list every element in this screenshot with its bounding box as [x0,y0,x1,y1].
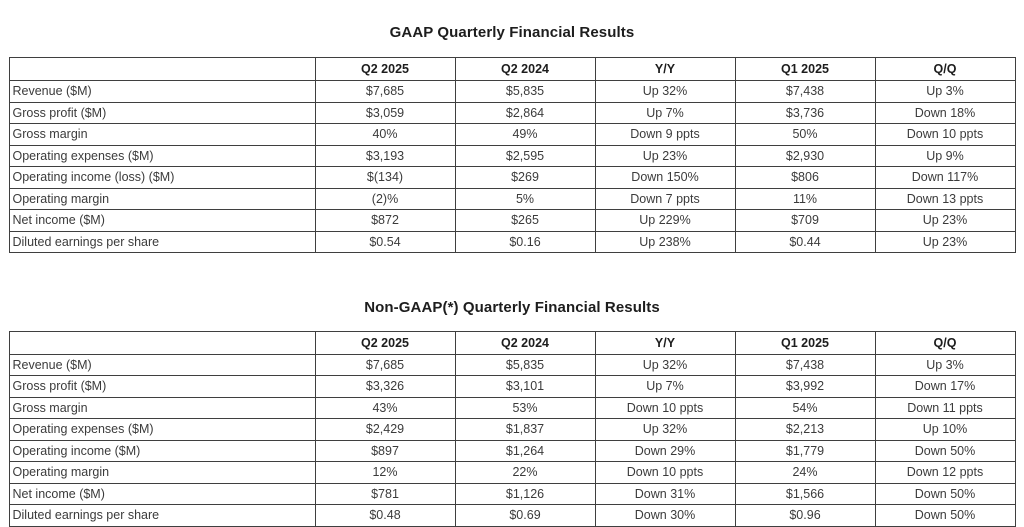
cell-qq: Down 11 ppts [875,397,1015,419]
cell-q2-2025: $7,685 [315,81,455,103]
row-label: Revenue ($M) [9,81,315,103]
cell-q1-2025: $1,566 [735,483,875,505]
gaap-table-body: Revenue ($M) $7,685 $5,835 Up 32% $7,438… [9,81,1015,253]
cell-qq: Up 3% [875,81,1015,103]
cell-q2-2024: $2,595 [455,145,595,167]
cell-q1-2025: $806 [735,167,875,189]
row-label: Operating income (loss) ($M) [9,167,315,189]
cell-yy: Up 23% [595,145,735,167]
cell-q2-2025: $3,059 [315,102,455,124]
row-label: Revenue ($M) [9,354,315,376]
cell-q2-2025: 43% [315,397,455,419]
financial-results-page: GAAP Quarterly Financial Results Q2 2025… [0,12,1024,526]
cell-q2-2025: $3,193 [315,145,455,167]
table-row: Gross margin 40% 49% Down 9 ppts 50% Dow… [9,124,1015,146]
column-header-q2-2025: Q2 2025 [315,58,455,81]
column-header-q2-2025: Q2 2025 [315,331,455,354]
nongaap-results-table: Q2 2025 Q2 2024 Y/Y Q1 2025 Q/Q Revenue … [9,331,1016,527]
cell-q2-2025: $2,429 [315,419,455,441]
table-row: Operating income (loss) ($M) $(134) $269… [9,167,1015,189]
cell-q2-2024: $265 [455,210,595,232]
row-label: Operating expenses ($M) [9,419,315,441]
row-label: Net income ($M) [9,483,315,505]
column-header-yy: Y/Y [595,331,735,354]
table-row: Net income ($M) $872 $265 Up 229% $709 U… [9,210,1015,232]
cell-qq: Down 50% [875,505,1015,527]
cell-q2-2025: $(134) [315,167,455,189]
table-row: Diluted earnings per share $0.54 $0.16 U… [9,231,1015,253]
cell-qq: Down 50% [875,483,1015,505]
table-header-row: Q2 2025 Q2 2024 Y/Y Q1 2025 Q/Q [9,58,1015,81]
cell-yy: Down 31% [595,483,735,505]
cell-q2-2024: $269 [455,167,595,189]
cell-q1-2025: 24% [735,462,875,484]
cell-qq: Up 23% [875,210,1015,232]
column-header-qq: Q/Q [875,331,1015,354]
cell-q1-2025: $709 [735,210,875,232]
cell-q2-2025: $872 [315,210,455,232]
cell-q1-2025: $7,438 [735,354,875,376]
cell-q1-2025: $1,779 [735,440,875,462]
cell-q1-2025: $2,213 [735,419,875,441]
row-label: Operating income ($M) [9,440,315,462]
row-label: Diluted earnings per share [9,231,315,253]
row-label: Operating margin [9,462,315,484]
cell-qq: Down 12 ppts [875,462,1015,484]
table-row: Operating margin (2)% 5% Down 7 ppts 11%… [9,188,1015,210]
cell-q1-2025: 11% [735,188,875,210]
cell-qq: Down 117% [875,167,1015,189]
row-label: Gross margin [9,397,315,419]
column-header-q2-2024: Q2 2024 [455,331,595,354]
row-label: Diluted earnings per share [9,505,315,527]
cell-q2-2025: $7,685 [315,354,455,376]
cell-q2-2025: $3,326 [315,376,455,398]
row-label: Gross profit ($M) [9,376,315,398]
cell-q1-2025: $3,992 [735,376,875,398]
cell-yy: Down 30% [595,505,735,527]
row-label: Net income ($M) [9,210,315,232]
gaap-results-table: Q2 2025 Q2 2024 Y/Y Q1 2025 Q/Q Revenue … [9,57,1016,253]
cell-qq: Down 17% [875,376,1015,398]
cell-yy: Up 32% [595,354,735,376]
gaap-table-header: Q2 2025 Q2 2024 Y/Y Q1 2025 Q/Q [9,58,1015,81]
cell-q1-2025: $0.44 [735,231,875,253]
cell-qq: Up 9% [875,145,1015,167]
cell-q2-2025: $781 [315,483,455,505]
cell-q2-2024: 53% [455,397,595,419]
column-header-qq: Q/Q [875,58,1015,81]
table-row: Operating margin 12% 22% Down 10 ppts 24… [9,462,1015,484]
cell-qq: Down 18% [875,102,1015,124]
cell-q2-2024: $2,864 [455,102,595,124]
table-row: Operating expenses ($M) $3,193 $2,595 Up… [9,145,1015,167]
table-row: Gross margin 43% 53% Down 10 ppts 54% Do… [9,397,1015,419]
cell-q2-2024: $0.69 [455,505,595,527]
cell-qq: Up 3% [875,354,1015,376]
cell-qq: Down 13 ppts [875,188,1015,210]
table-row: Gross profit ($M) $3,326 $3,101 Up 7% $3… [9,376,1015,398]
cell-qq: Up 23% [875,231,1015,253]
row-label: Gross profit ($M) [9,102,315,124]
cell-q2-2024: $5,835 [455,354,595,376]
page-title-nongaap: Non-GAAP(*) Quarterly Financial Results [0,266,1024,315]
cell-q2-2025: 40% [315,124,455,146]
cell-yy: Up 238% [595,231,735,253]
row-label: Gross margin [9,124,315,146]
column-header-label [9,331,315,354]
cell-q1-2025: 50% [735,124,875,146]
cell-qq: Down 10 ppts [875,124,1015,146]
cell-q2-2025: $897 [315,440,455,462]
cell-q2-2024: $1,264 [455,440,595,462]
cell-q2-2024: 22% [455,462,595,484]
cell-yy: Down 10 ppts [595,462,735,484]
column-header-q2-2024: Q2 2024 [455,58,595,81]
nongaap-table-body: Revenue ($M) $7,685 $5,835 Up 32% $7,438… [9,354,1015,526]
table-row: Gross profit ($M) $3,059 $2,864 Up 7% $3… [9,102,1015,124]
cell-q2-2025: 12% [315,462,455,484]
cell-q1-2025: $3,736 [735,102,875,124]
cell-yy: Up 229% [595,210,735,232]
cell-q2-2024: $1,126 [455,483,595,505]
table-header-row: Q2 2025 Q2 2024 Y/Y Q1 2025 Q/Q [9,331,1015,354]
cell-yy: Down 29% [595,440,735,462]
nongaap-table-header: Q2 2025 Q2 2024 Y/Y Q1 2025 Q/Q [9,331,1015,354]
column-header-yy: Y/Y [595,58,735,81]
cell-yy: Down 7 ppts [595,188,735,210]
cell-q2-2024: $0.16 [455,231,595,253]
table-row: Diluted earnings per share $0.48 $0.69 D… [9,505,1015,527]
table-row: Operating expenses ($M) $2,429 $1,837 Up… [9,419,1015,441]
cell-qq: Down 50% [875,440,1015,462]
cell-q2-2024: $3,101 [455,376,595,398]
cell-q2-2024: 49% [455,124,595,146]
cell-qq: Up 10% [875,419,1015,441]
table-row: Operating income ($M) $897 $1,264 Down 2… [9,440,1015,462]
cell-yy: Up 32% [595,81,735,103]
cell-q2-2024: 5% [455,188,595,210]
cell-yy: Down 10 ppts [595,397,735,419]
row-label: Operating expenses ($M) [9,145,315,167]
cell-yy: Up 32% [595,419,735,441]
cell-q2-2024: $5,835 [455,81,595,103]
table-row: Net income ($M) $781 $1,126 Down 31% $1,… [9,483,1015,505]
cell-q1-2025: $7,438 [735,81,875,103]
cell-q2-2025: (2)% [315,188,455,210]
cell-q1-2025: $2,930 [735,145,875,167]
cell-q2-2024: $1,837 [455,419,595,441]
cell-yy: Up 7% [595,376,735,398]
column-header-q1-2025: Q1 2025 [735,58,875,81]
cell-q2-2025: $0.48 [315,505,455,527]
row-label: Operating margin [9,188,315,210]
column-header-q1-2025: Q1 2025 [735,331,875,354]
table-row: Revenue ($M) $7,685 $5,835 Up 32% $7,438… [9,81,1015,103]
cell-q2-2025: $0.54 [315,231,455,253]
cell-q1-2025: $0.96 [735,505,875,527]
page-title-gaap: GAAP Quarterly Financial Results [0,12,1024,40]
column-header-label [9,58,315,81]
cell-q1-2025: 54% [735,397,875,419]
cell-yy: Up 7% [595,102,735,124]
table-row: Revenue ($M) $7,685 $5,835 Up 32% $7,438… [9,354,1015,376]
cell-yy: Down 150% [595,167,735,189]
cell-yy: Down 9 ppts [595,124,735,146]
